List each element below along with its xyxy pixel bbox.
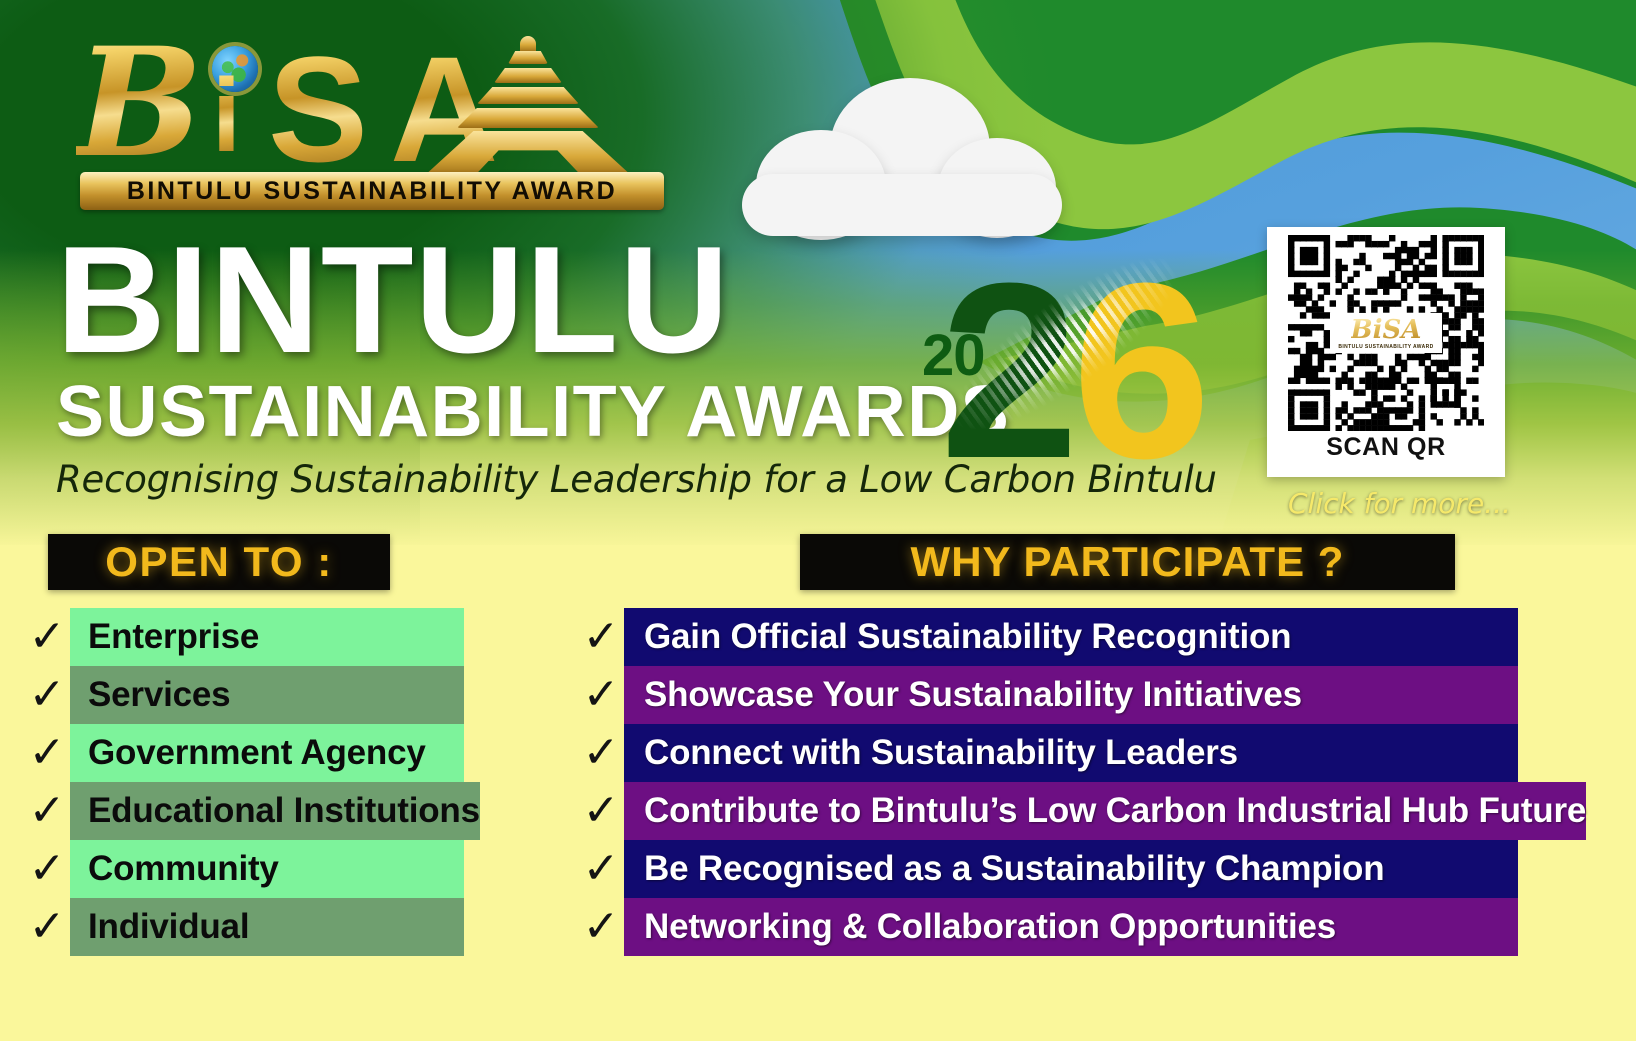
list-item: ✓Enterprise <box>24 608 464 666</box>
section-banner-open-to-label: OPEN TO : <box>105 538 332 586</box>
section-banner-why-participate: WHY PARTICIPATE ? <box>800 534 1455 590</box>
open-to-item-row-bar: Government Agency <box>70 724 464 782</box>
year-prefix-20: 20 <box>922 322 985 389</box>
qr-caption: SCAN QR <box>1326 433 1445 462</box>
qr-embedded-logo: BiSA BINTULU SUSTAINABILITY AWARD <box>1330 313 1442 353</box>
check-icon: ✓ <box>578 731 624 775</box>
logo-letter-b: B <box>76 28 197 178</box>
why-item-label: Contribute to Bintulu’s Low Carbon Indus… <box>644 791 1586 831</box>
poster-root: B i S A BINTULU SUSTAINABILITY AWARD BIN… <box>0 0 1636 1041</box>
section-banner-why-participate-label: WHY PARTICIPATE ? <box>911 538 1345 586</box>
open-to-list: ✓Enterprise✓Services✓Government Agency✓E… <box>24 608 464 956</box>
open-to-item-label: Government Agency <box>88 733 426 773</box>
logo-letter-s: S <box>268 34 368 184</box>
cloud-icon <box>742 78 1072 243</box>
why-item-label: Showcase Your Sustainability Initiatives <box>644 675 1302 715</box>
why-item-row-bar: Be Recognised as a Sustainability Champi… <box>624 840 1518 898</box>
bisa-logo: B i S A BINTULU SUSTAINABILITY AWARD <box>72 22 672 212</box>
list-item: ✓Community <box>24 840 464 898</box>
open-to-item-row-bar: Services <box>70 666 464 724</box>
check-icon: ✓ <box>24 673 70 717</box>
qr-logo-subtext: BINTULU SUSTAINABILITY AWARD <box>1338 344 1433 350</box>
qr-click-for-more-link[interactable]: Click for more... <box>1288 487 1511 520</box>
why-item-row-bar: Connect with Sustainability Leaders <box>624 724 1518 782</box>
check-icon: ✓ <box>578 615 624 659</box>
open-to-item-label: Individual <box>88 907 249 947</box>
list-item: ✓Connect with Sustainability Leaders <box>578 724 1518 782</box>
list-item: ✓Educational Institutions <box>24 782 464 840</box>
year-badge: 2 6 20 <box>916 240 1216 505</box>
why-item-row-bar: Showcase Your Sustainability Initiatives <box>624 666 1518 724</box>
why-item-label: Connect with Sustainability Leaders <box>644 733 1238 773</box>
open-to-item-label: Educational Institutions <box>88 791 480 831</box>
why-item-label: Gain Official Sustainability Recognition <box>644 617 1291 657</box>
logo-nameplate-text: BINTULU SUSTAINABILITY AWARD <box>127 177 617 206</box>
logo-nameplate: BINTULU SUSTAINABILITY AWARD <box>80 172 664 210</box>
check-icon: ✓ <box>578 847 624 891</box>
open-to-item-row-bar: Community <box>70 840 464 898</box>
qr-code-icon[interactable]: BiSA BINTULU SUSTAINABILITY AWARD <box>1288 235 1484 431</box>
list-item: ✓Gain Official Sustainability Recognitio… <box>578 608 1518 666</box>
open-to-item-row-bar: Individual <box>70 898 464 956</box>
why-item-row-bar: Contribute to Bintulu’s Low Carbon Indus… <box>624 782 1586 840</box>
list-item: ✓Contribute to Bintulu’s Low Carbon Indu… <box>578 782 1518 840</box>
open-to-item-label: Enterprise <box>88 617 259 657</box>
check-icon: ✓ <box>24 789 70 833</box>
check-icon: ✓ <box>578 789 624 833</box>
why-item-row-bar: Gain Official Sustainability Recognition <box>624 608 1518 666</box>
open-to-item-label: Services <box>88 675 230 715</box>
logo-mark: B i S A <box>72 22 672 170</box>
check-icon: ✓ <box>24 615 70 659</box>
check-icon: ✓ <box>24 847 70 891</box>
why-item-label: Networking & Collaboration Opportunities <box>644 907 1336 947</box>
list-item: ✓Services <box>24 666 464 724</box>
qr-panel[interactable]: BiSA BINTULU SUSTAINABILITY AWARD SCAN Q… <box>1267 227 1505 477</box>
check-icon: ✓ <box>24 905 70 949</box>
pagoda-tower-icon <box>408 36 648 176</box>
check-icon: ✓ <box>578 905 624 949</box>
check-icon: ✓ <box>24 731 70 775</box>
list-item: ✓Government Agency <box>24 724 464 782</box>
check-icon: ✓ <box>578 673 624 717</box>
open-to-item-row-bar: Enterprise <box>70 608 464 666</box>
section-banner-open-to: OPEN TO : <box>48 534 390 590</box>
open-to-item-label: Community <box>88 849 279 889</box>
logo-letter-i: i <box>212 64 241 168</box>
why-participate-list: ✓Gain Official Sustainability Recognitio… <box>578 608 1518 956</box>
qr-logo-text: BiSA <box>1351 317 1422 343</box>
list-item: ✓Showcase Your Sustainability Initiative… <box>578 666 1518 724</box>
open-to-item-row-bar: Educational Institutions <box>70 782 480 840</box>
list-item: ✓Be Recognised as a Sustainability Champ… <box>578 840 1518 898</box>
why-item-label: Be Recognised as a Sustainability Champi… <box>644 849 1384 889</box>
list-item: ✓Individual <box>24 898 464 956</box>
why-item-row-bar: Networking & Collaboration Opportunities <box>624 898 1518 956</box>
list-item: ✓Networking & Collaboration Opportunitie… <box>578 898 1518 956</box>
